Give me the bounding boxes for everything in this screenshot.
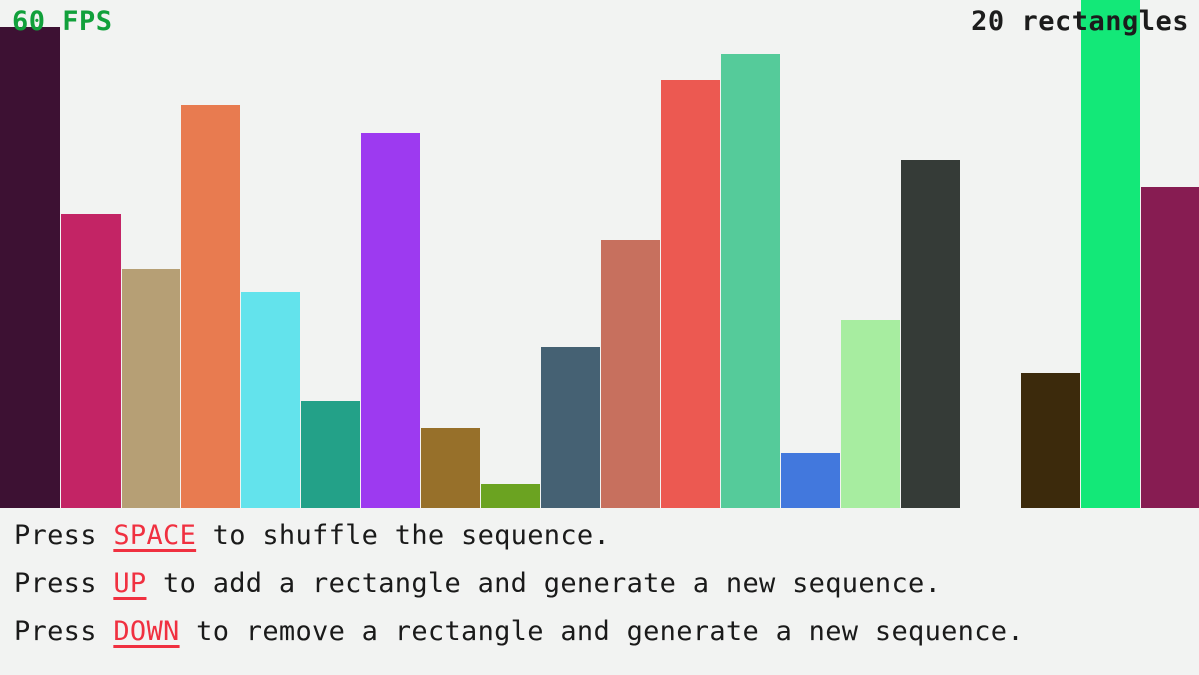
fps-counter: 60 FPS: [12, 8, 113, 35]
bar-15-light-green: [841, 320, 900, 508]
instruction-suffix: to shuffle the sequence.: [196, 520, 610, 551]
bar-14-blue: [781, 453, 840, 508]
bar-19-bright-green: [1081, 0, 1140, 508]
bar-3-tan: [122, 269, 180, 508]
bar-10-slate-blue: [541, 347, 600, 508]
bar-13-mint-green: [721, 54, 780, 508]
bar-2-magenta: [61, 214, 121, 508]
key-down[interactable]: DOWN: [113, 616, 179, 647]
bar-5-cyan: [241, 292, 300, 508]
instruction-suffix: to add a rectangle and generate a new se…: [146, 568, 941, 599]
bar-1-dark-plum: [0, 27, 60, 508]
bar-11-salmon-brown: [601, 240, 660, 508]
key-space[interactable]: SPACE: [113, 520, 196, 551]
key-up[interactable]: UP: [113, 568, 146, 599]
bar-chart-canvas[interactable]: [0, 0, 1199, 508]
instruction-prefix: Press: [14, 568, 113, 599]
bar-16-dark-gray: [901, 160, 960, 508]
bar-12-red: [661, 80, 720, 508]
instruction-line-2: Press UP to add a rectangle and generate…: [14, 570, 1199, 597]
bar-9-olive-green: [481, 484, 540, 508]
instruction-prefix: Press: [14, 520, 113, 551]
instruction-line-3: Press DOWN to remove a rectangle and gen…: [14, 618, 1199, 645]
instruction-suffix: to remove a rectangle and generate a new…: [180, 616, 1024, 647]
instruction-prefix: Press: [14, 616, 113, 647]
bar-8-brown: [421, 428, 480, 508]
bar-4-orange: [181, 105, 240, 508]
bar-18-dark-brown: [1021, 373, 1080, 508]
bar-7-purple: [361, 133, 420, 508]
rectangle-count-label: 20 rectangles: [971, 8, 1189, 35]
bar-20-dark-magenta: [1141, 187, 1199, 508]
instruction-line-1: Press SPACE to shuffle the sequence.: [14, 522, 1199, 549]
bar-6-teal: [301, 401, 360, 508]
instructions-panel: Press SPACE to shuffle the sequence.Pres…: [0, 508, 1199, 675]
app-root: 60 FPS 20 rectangles Press SPACE to shuf…: [0, 0, 1199, 675]
